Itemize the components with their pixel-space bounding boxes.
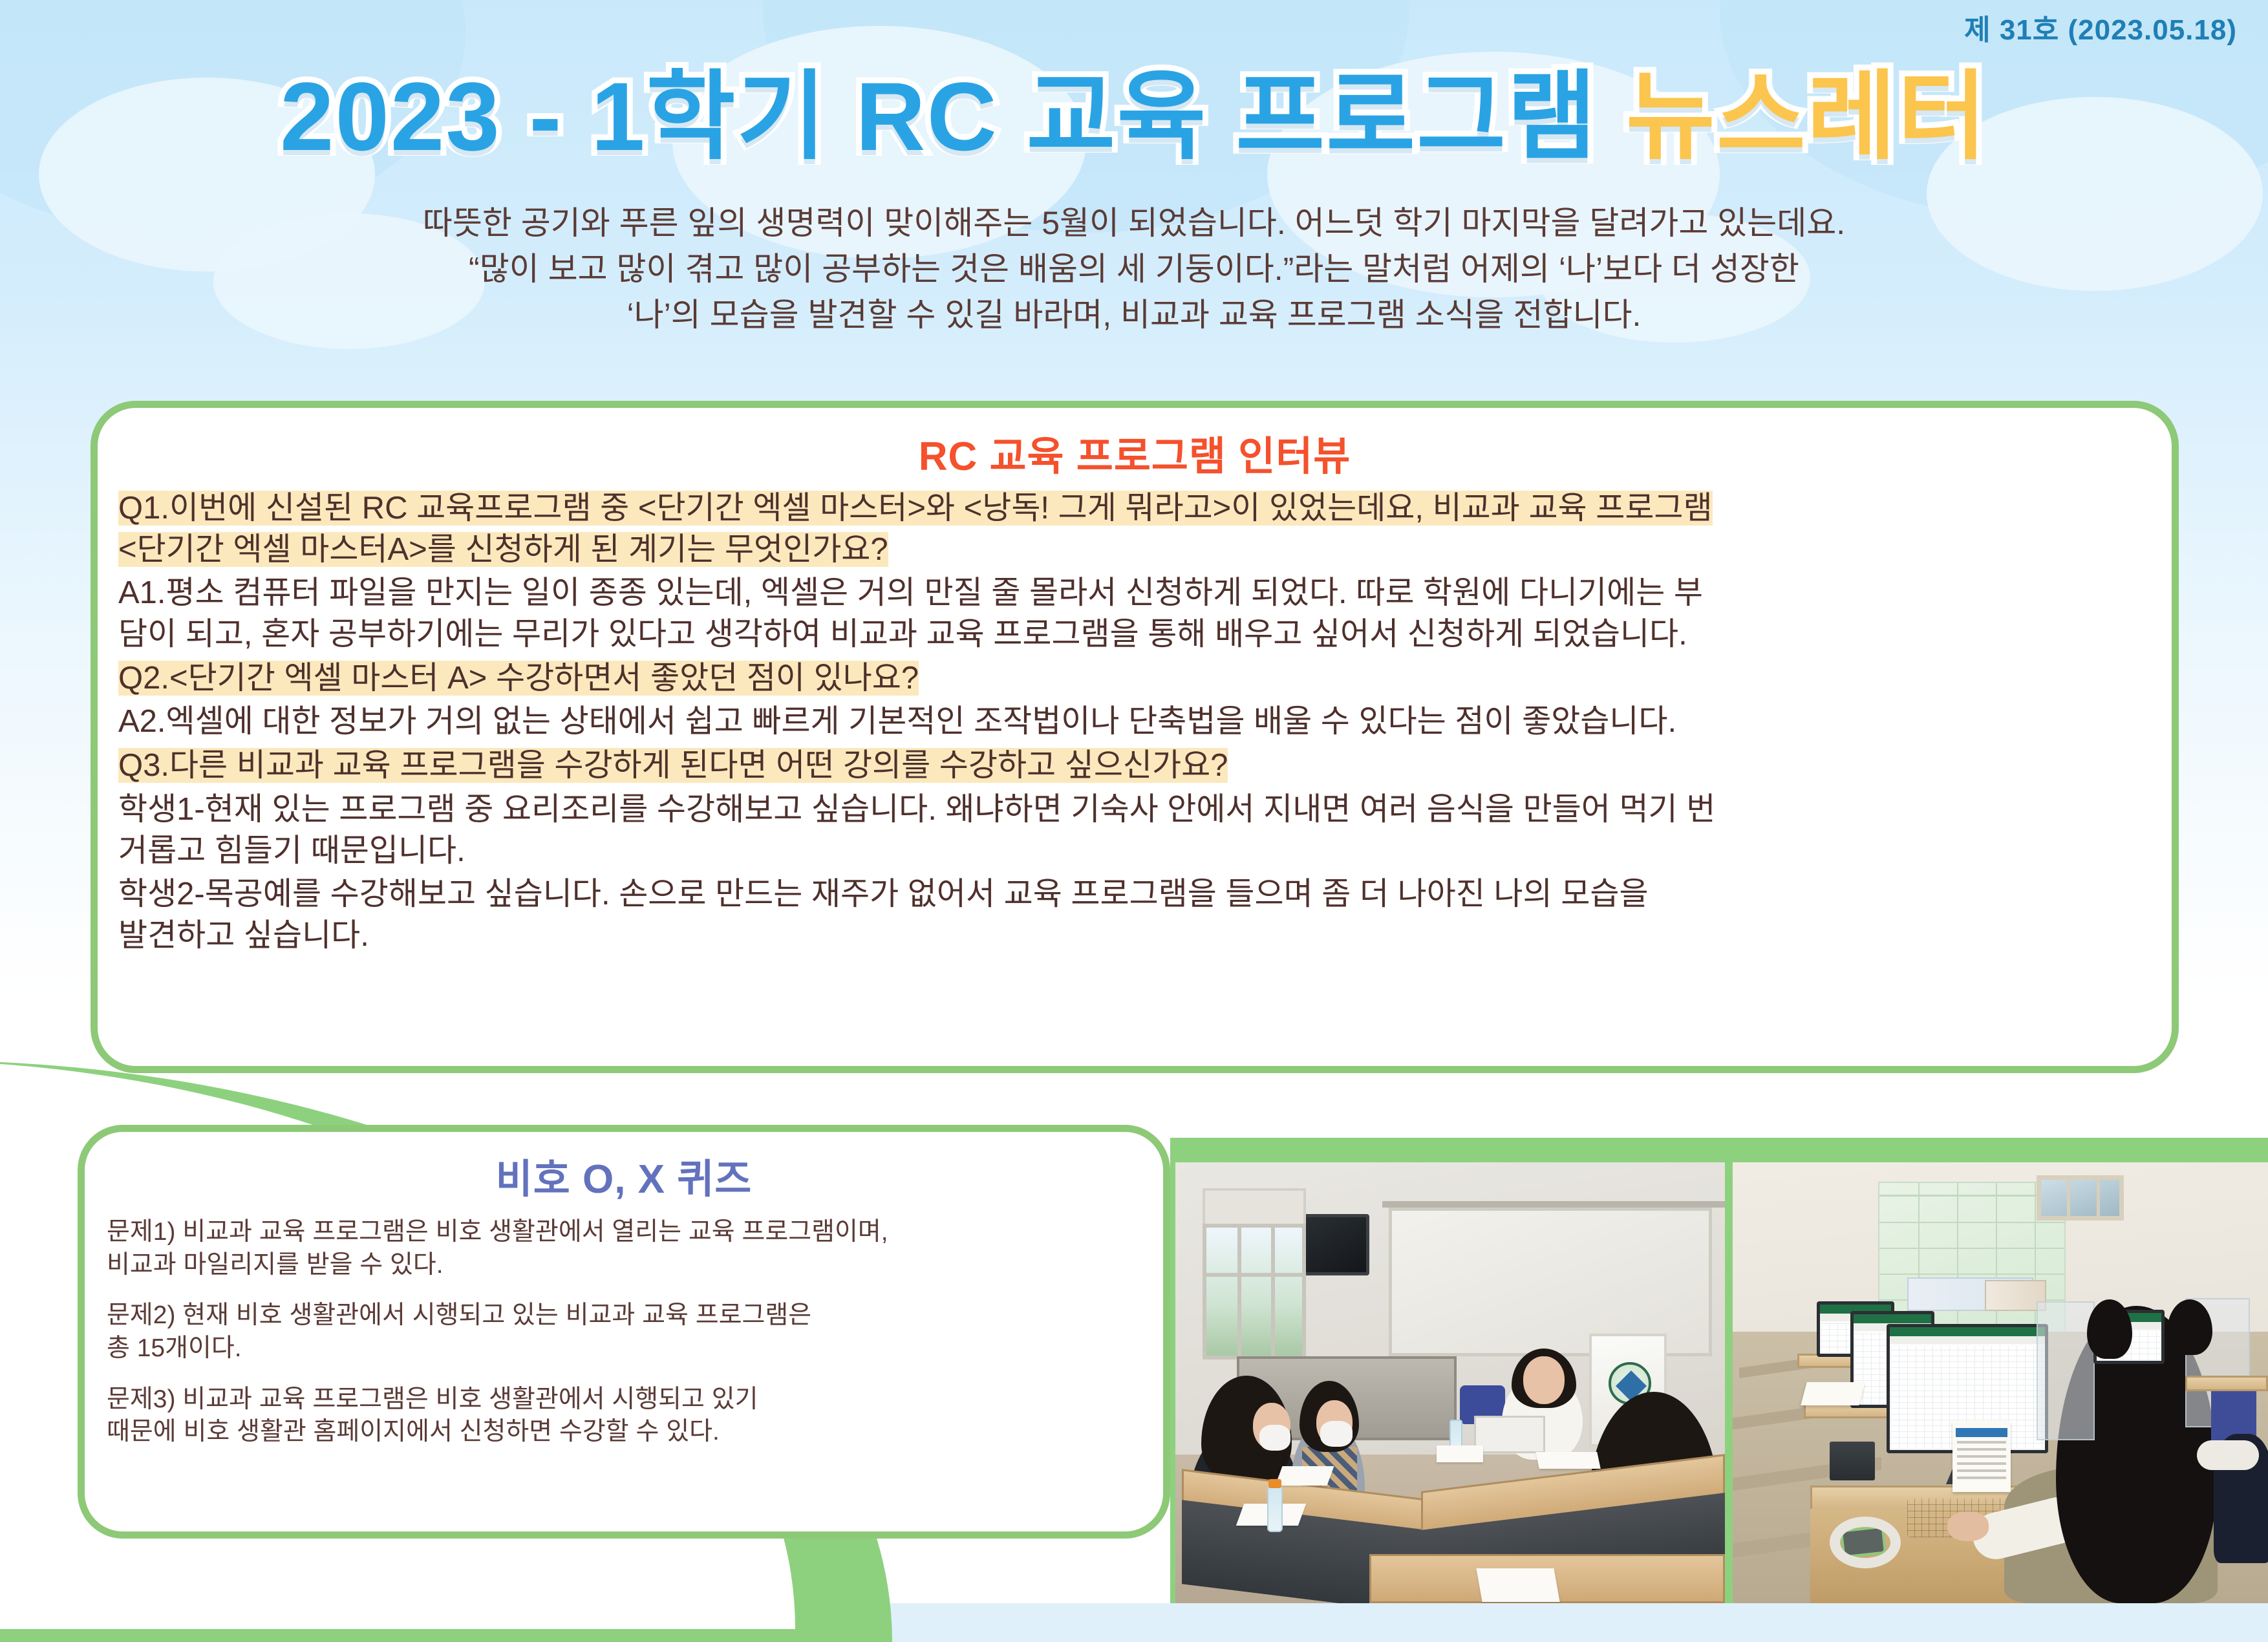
photo2-pc-tower <box>1830 1442 1875 1480</box>
quiz-section-card: 비호 O, X 퀴즈 문제1) 비교과 교육 프로그램은 비호 생활관에서 열리… <box>78 1125 1170 1539</box>
quiz-q3-line-2: 때문에 비호 생활관 홈페이지에서 신청하면 수강할 수 있다. <box>107 1418 720 1445</box>
interview-answer-1: A1.평소 컴퓨터 파일을 만지는 일이 종종 있는데, 엑셀은 거의 만질 줄… <box>118 573 2155 655</box>
photo1-wall-monitor <box>1298 1214 1369 1275</box>
photo1-window <box>1203 1224 1306 1359</box>
intro-line-3: ‘나’의 모습을 발견할 수 있길 바라며, 비교과 교육 프로그램 소식을 전… <box>0 292 2268 338</box>
title-accent-text: 뉴스레터 <box>1626 62 1988 171</box>
photo2-handout <box>1952 1421 2011 1492</box>
quiz-question-1: 문제1) 비교과 교육 프로그램은 비호 생활관에서 열리는 교육 프로그램이며… <box>107 1216 1144 1281</box>
quiz-section-heading: 비호 O, X 퀴즈 <box>85 1146 1163 1204</box>
interview-question-3: Q3.다른 비교과 교육 프로그램을 수강하게 된다면 어떤 강의를 수강하고 … <box>118 745 2155 787</box>
photo1-paper-3 <box>1476 1568 1559 1602</box>
quiz-q1-line-1: 문제1) 비교과 교육 프로그램은 비호 생활관에서 열리는 교육 프로그램이며… <box>107 1218 888 1246</box>
intro-paragraph: 따뜻한 공기와 푸른 잎의 생명력이 맞이해주는 5월이 되었습니다. 어느덧 … <box>0 200 2268 338</box>
interview-q1-line-2: <단기간 엑셀 마스터A>를 신청하게 된 계기는 무엇인가요? <box>118 532 888 567</box>
photo2-back-papers <box>1801 1382 1865 1405</box>
quiz-q1-line-2: 비교과 마일리지를 받을 수 있다. <box>107 1251 444 1279</box>
interview-a1-line-1: A1.평소 컴퓨터 파일을 만지는 일이 종종 있는데, 엑셀은 거의 만질 줄… <box>118 575 1703 610</box>
interview-a1-line-2: 담이 되고, 혼자 공부하기에는 무리가 있다고 생각하여 비교과 교육 프로그… <box>118 617 1687 652</box>
interview-q1-line-1: Q1.이번에 신설된 RC 교육프로그램 중 <단기간 엑셀 마스터>와 <낭독… <box>118 491 1713 526</box>
photo-gallery <box>1175 1162 2268 1603</box>
quiz-question-3: 문제3) 비교과 교육 프로그램은 비호 생활관에서 시행되고 있기 때문에 비… <box>107 1383 1144 1449</box>
issue-number: 제 31호 (2023.05.18) <box>1964 6 2237 48</box>
intro-line-1: 따뜻한 공기와 푸른 잎의 생명력이 맞이해주는 5월이 되었습니다. 어느덧 … <box>0 200 2268 246</box>
photo2-desk-right <box>2185 1376 2268 1391</box>
title-main-text: 2023 - 1학기 RC 교육 프로그램 <box>280 62 1598 171</box>
photo1-student2-mask <box>1320 1421 1353 1447</box>
photo2-neighbour-arm <box>2197 1440 2259 1470</box>
interview-q3-line-1: Q3.다른 비교과 교육 프로그램을 수강하게 된다면 어떤 강의를 수강하고 … <box>118 748 1228 783</box>
photo2-student-hand <box>1947 1511 1989 1541</box>
intro-line-2: “많이 보고 많이 겪고 많이 공부하는 것은 배움의 세 기둥이다.”라는 말… <box>0 246 2268 292</box>
photo2-window <box>2037 1175 2124 1221</box>
photo1-whiteboard-rail <box>1382 1201 1725 1208</box>
photo1-tissue-box <box>1437 1445 1483 1462</box>
interview-section-card: RC 교육 프로그램 인터뷰 Q1.이번에 신설된 RC 교육프로그램 중 <단… <box>91 401 2179 1073</box>
photo1-student1-mask <box>1259 1425 1290 1451</box>
interview-student-1-answer: 학생1-현재 있는 프로그램 중 요리조리를 수강해보고 싶습니다. 왜냐하면 … <box>118 789 2155 871</box>
interview-question-1: Q1.이번에 신설된 RC 교육프로그램 중 <단기간 엑셀 마스터>와 <낭독… <box>118 488 2155 570</box>
photo1-instructor-face <box>1523 1356 1565 1404</box>
interview-content: Q1.이번에 신설된 RC 교육프로그램 중 <단기간 엑셀 마스터>와 <낭독… <box>98 482 2172 957</box>
quiz-q2-line-1: 문제2) 현재 비호 생활관에서 시행되고 있는 비교과 교육 프로그램은 <box>107 1301 811 1329</box>
interview-student2-line-1: 학생2-목공예를 수강해보고 싶습니다. 손으로 만드는 재주가 없어서 교육 … <box>118 877 1649 912</box>
interview-q2-line-1: Q2.<단기간 엑셀 마스터 A> 수강하면서 좋았던 점이 있나요? <box>118 661 919 696</box>
quiz-content: 문제1) 비교과 교육 프로그램은 비호 생활관에서 열리는 교육 프로그램이며… <box>85 1204 1163 1449</box>
interview-student1-line-1: 학생1-현재 있는 프로그램 중 요리조리를 수강해보고 싶습니다. 왜냐하면 … <box>118 792 1715 827</box>
quiz-question-2: 문제2) 현재 비호 생활관에서 시행되고 있는 비교과 교육 프로그램은 총 … <box>107 1299 1144 1365</box>
photo1-bottle-cap <box>1268 1479 1281 1488</box>
quiz-q2-line-2: 총 15개이다. <box>107 1334 242 1362</box>
quiz-q3-line-1: 문제3) 비교과 교육 프로그램은 비호 생활관에서 시행되고 있기 <box>107 1385 758 1413</box>
interview-a2-line-1: A2.엑셀에 대한 정보가 거의 없는 상태에서 쉽고 빠르게 기본적인 조작법… <box>118 704 1676 739</box>
interview-section-heading: RC 교육 프로그램 인터뷰 <box>98 423 2172 482</box>
interview-meeting-room-photo <box>1175 1162 1725 1603</box>
photo2-neck-pillow <box>1830 1517 1901 1568</box>
photo2-desk-divider-1 <box>2037 1301 2095 1440</box>
photo1-laptop <box>1474 1416 1545 1453</box>
photo1-paper-1 <box>1276 1466 1334 1486</box>
interview-student-2-answer: 학생2-목공예를 수강해보고 싶습니다. 손으로 만드는 재주가 없어서 교육 … <box>118 874 2155 956</box>
interview-question-2: Q2.<단기간 엑셀 마스터 A> 수강하면서 좋았던 점이 있나요? <box>118 658 2155 699</box>
interview-student2-line-2: 발견하고 싶습니다. <box>118 918 369 953</box>
interview-student1-line-2: 거롭고 힘들기 때문입니다. <box>118 833 465 868</box>
excel-class-computer-lab-photo <box>1733 1162 2268 1603</box>
photo1-paper-4 <box>1535 1452 1601 1469</box>
interview-answer-2: A2.엑셀에 대한 정보가 거의 없는 상태에서 쉽고 빠르게 기본적인 조작법… <box>118 701 2155 743</box>
page-title: 2023 - 1학기 RC 교육 프로그램 뉴스레터 <box>0 68 2268 165</box>
photo1-water-bottle <box>1267 1486 1283 1532</box>
